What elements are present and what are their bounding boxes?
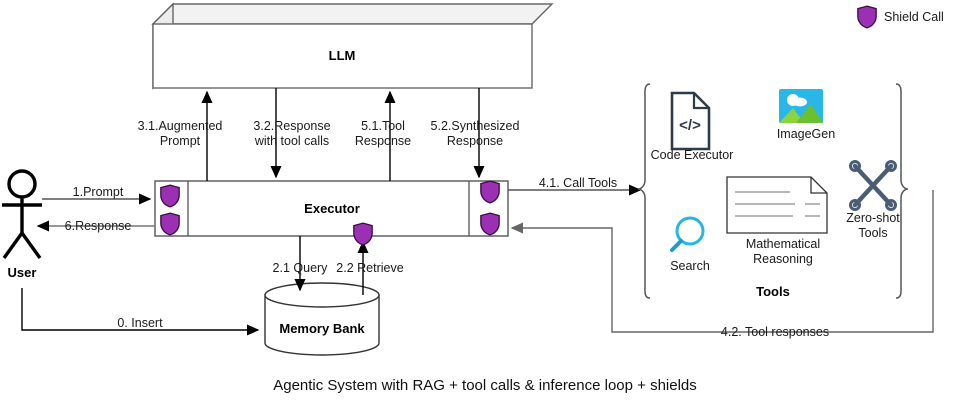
tool-math-reasoning-label: MathematicalReasoning (746, 237, 820, 266)
llm-top-face (153, 4, 552, 24)
tool-search[interactable]: Search (670, 218, 710, 273)
shield-icon-executor-out-bottom[interactable] (481, 213, 499, 235)
image-cloud-puff (793, 98, 807, 107)
executor-label: Executor (304, 201, 360, 216)
tool-code-executor-label: Code Executor (651, 148, 734, 162)
code-glyph: </> (679, 117, 701, 134)
shield-icon-executor-memory[interactable] (354, 223, 372, 245)
user-leg-left (4, 233, 22, 258)
memory-bank-label: Memory Bank (279, 321, 365, 336)
edge-4-1-call-tools-label: 4.1. Call Tools (539, 176, 617, 190)
tool-code-executor[interactable]: </> Code Executor (651, 93, 734, 162)
diagram-caption: Agentic System with RAG + tool calls & i… (273, 377, 697, 394)
crossed-wrenches-icon (851, 162, 896, 210)
edge-2-2-retrieve-label: 2.2 Retrieve (336, 261, 403, 275)
edge-1-prompt-label: 1.Prompt (73, 185, 124, 199)
shield-icon-executor-out-top[interactable] (481, 181, 499, 203)
legend-shield-icon (858, 6, 876, 28)
memory-bank-top (265, 283, 379, 307)
llm-node[interactable]: LLM (153, 4, 552, 88)
tools-right-brace (896, 84, 908, 298)
tools-left-brace (638, 84, 650, 298)
executor-node[interactable]: Executor (155, 181, 508, 236)
edge-3-2-label: 3.2.Responsewith tool calls (253, 119, 330, 148)
formula-document-icon (727, 177, 827, 233)
edge-0-insert-label: 0. Insert (117, 316, 163, 330)
user-node[interactable] (2, 171, 42, 258)
agentic-system-diagram: LLM Executor Memory Bank User 3.1.Augmen… (0, 0, 970, 411)
edge-3-1-label: 3.1.AugmentedPrompt (138, 119, 223, 148)
tool-search-label: Search (670, 259, 710, 273)
edge-4-2-tool-responses-label: 4.2. Tool responses (721, 325, 829, 339)
edge-2-1-query-label: 2.1 Query (273, 261, 329, 275)
tool-image-gen-label: ImageGen (777, 127, 835, 141)
tool-zero-shot[interactable]: Zero-shotTools (846, 162, 900, 241)
tool-image-gen[interactable]: ImageGen (777, 89, 835, 141)
magnifier-handle (672, 241, 681, 250)
shield-icon-executor-in-top[interactable] (161, 185, 179, 207)
tools-group-label: Tools (756, 284, 790, 299)
memory-bank-node[interactable]: Memory Bank (265, 283, 379, 355)
edge-5-2-label: 5.2.SynthesizedResponse (431, 119, 520, 148)
legend-shield-label: Shield Call (884, 10, 944, 24)
edge-6-response-label: 6.Response (65, 219, 132, 233)
legend: Shield Call (858, 6, 944, 28)
llm-label: LLM (329, 48, 356, 63)
user-head (9, 171, 35, 197)
user-label: User (8, 265, 37, 280)
tool-math-reasoning[interactable]: MathematicalReasoning (727, 177, 827, 266)
user-leg-right (22, 233, 40, 258)
tool-zero-shot-label: Zero-shotTools (846, 211, 900, 240)
edge-5-1-label: 5.1.ToolResponse (355, 119, 411, 148)
shield-icon-executor-in-bottom[interactable] (161, 213, 179, 235)
